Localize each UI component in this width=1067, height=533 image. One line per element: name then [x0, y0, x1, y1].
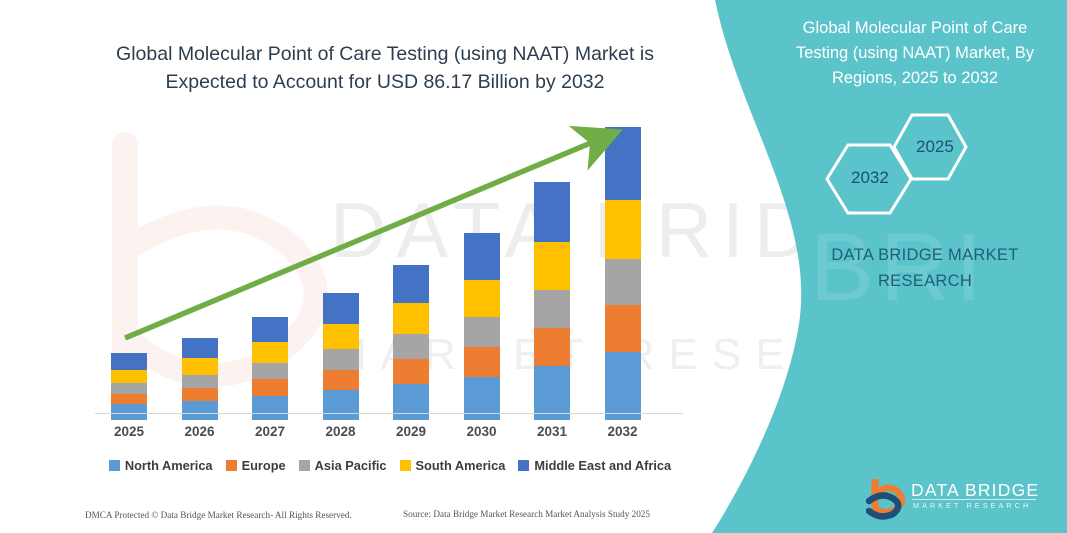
bar-segment-2032-south-america[interactable] — [605, 200, 641, 259]
legend-item-south-america[interactable]: South America — [400, 458, 506, 473]
bar-2029[interactable] — [393, 265, 429, 420]
x-axis-labels: 20252026202720282029203020312032 — [95, 424, 685, 446]
bar-segment-2031-asia-pacific[interactable] — [534, 290, 570, 328]
legend-swatch-icon — [226, 460, 237, 471]
legend-label: Middle East and Africa — [534, 458, 671, 473]
bar-2027[interactable] — [252, 317, 288, 420]
x-axis-line — [95, 413, 683, 414]
legend-label: South America — [416, 458, 506, 473]
hexagon-label-2025: 2025 — [916, 137, 954, 157]
bar-segment-2029-europe[interactable] — [393, 359, 429, 384]
bar-segment-2025-asia-pacific[interactable] — [111, 383, 147, 394]
x-label-2031: 2031 — [517, 424, 587, 439]
chart-legend: North AmericaEuropeAsia PacificSouth Ame… — [95, 458, 685, 473]
bar-2025[interactable] — [111, 353, 147, 420]
bar-segment-2031-north-america[interactable] — [534, 366, 570, 420]
bar-segment-2026-asia-pacific[interactable] — [182, 375, 218, 388]
data-bridge-logo: DATA BRIDGE MARKET RESEARCH — [866, 478, 1041, 522]
legend-swatch-icon — [400, 460, 411, 471]
bar-segment-2032-north-america[interactable] — [605, 352, 641, 420]
bar-2030[interactable] — [464, 233, 500, 420]
panel-brand-line1: DATA BRIDGE MARKET — [831, 246, 1018, 264]
legend-item-north-america[interactable]: North America — [109, 458, 213, 473]
stacked-bar-plot — [95, 120, 685, 420]
bar-segment-2026-north-america[interactable] — [182, 401, 218, 420]
bar-segment-2030-asia-pacific[interactable] — [464, 317, 500, 347]
bar-2028[interactable] — [323, 293, 359, 420]
bar-segment-2027-north-america[interactable] — [252, 396, 288, 420]
infographic-canvas: DATA BRIDGE MARKET RESEARCH Global Molec… — [0, 0, 1067, 533]
x-label-2029: 2029 — [376, 424, 446, 439]
hexagon-label-2032: 2032 — [851, 168, 889, 188]
bar-segment-2028-north-america[interactable] — [323, 390, 359, 420]
footer-source: Source: Data Bridge Market Research Mark… — [403, 509, 650, 519]
bar-segment-2025-middle-east-and-africa[interactable] — [111, 353, 147, 370]
legend-swatch-icon — [109, 460, 120, 471]
legend-label: Europe — [242, 458, 286, 473]
bar-segment-2028-middle-east-and-africa[interactable] — [323, 293, 359, 324]
bar-segment-2032-middle-east-and-africa[interactable] — [605, 127, 641, 200]
bar-segment-2026-middle-east-and-africa[interactable] — [182, 338, 218, 358]
bar-2026[interactable] — [182, 338, 218, 420]
bar-segment-2030-europe[interactable] — [464, 347, 500, 377]
bar-segment-2028-europe[interactable] — [323, 370, 359, 390]
bar-segment-2029-south-america[interactable] — [393, 303, 429, 334]
bar-segment-2029-middle-east-and-africa[interactable] — [393, 265, 429, 303]
logo-sub-text: MARKET RESEARCH — [913, 501, 1031, 510]
x-label-2030: 2030 — [447, 424, 517, 439]
footer-copyright: DMCA Protected © Data Bridge Market Rese… — [85, 510, 352, 520]
bar-segment-2026-south-america[interactable] — [182, 358, 218, 375]
legend-label: Asia Pacific — [315, 458, 387, 473]
bar-2032[interactable] — [605, 127, 641, 420]
panel-title: Global Molecular Point of Care Testing (… — [775, 16, 1055, 91]
legend-swatch-icon — [299, 460, 310, 471]
x-label-2028: 2028 — [306, 424, 376, 439]
bar-segment-2032-europe[interactable] — [605, 305, 641, 352]
bar-segment-2026-europe[interactable] — [182, 388, 218, 401]
x-label-2032: 2032 — [588, 424, 658, 439]
legend-label: North America — [125, 458, 213, 473]
x-label-2025: 2025 — [94, 424, 164, 439]
bar-segment-2027-south-america[interactable] — [252, 342, 288, 362]
bar-segment-2028-asia-pacific[interactable] — [323, 349, 359, 369]
x-label-2027: 2027 — [235, 424, 305, 439]
bar-segment-2030-south-america[interactable] — [464, 280, 500, 317]
panel-brand: DATA BRIDGE MARKET RESEARCH — [800, 242, 1050, 294]
bar-segment-2029-north-america[interactable] — [393, 384, 429, 420]
bar-segment-2027-asia-pacific[interactable] — [252, 363, 288, 380]
legend-item-middle-east-and-africa[interactable]: Middle East and Africa — [518, 458, 671, 473]
bar-segment-2031-middle-east-and-africa[interactable] — [534, 182, 570, 242]
bar-segment-2025-south-america[interactable] — [111, 370, 147, 383]
logo-divider — [912, 499, 1036, 500]
x-label-2026: 2026 — [165, 424, 235, 439]
bar-2031[interactable] — [534, 182, 570, 420]
bar-segment-2032-asia-pacific[interactable] — [605, 259, 641, 306]
bar-segment-2031-south-america[interactable] — [534, 242, 570, 290]
legend-item-asia-pacific[interactable]: Asia Pacific — [299, 458, 387, 473]
panel-brand-line2: RESEARCH — [878, 272, 972, 290]
bar-segment-2027-europe[interactable] — [252, 379, 288, 396]
chart-title: Global Molecular Point of Care Testing (… — [95, 40, 675, 96]
logo-main-text: DATA BRIDGE — [911, 480, 1039, 501]
hexagon-group: 2025 2032 — [820, 105, 1010, 215]
legend-swatch-icon — [518, 460, 529, 471]
bar-segment-2027-middle-east-and-africa[interactable] — [252, 317, 288, 342]
bar-segment-2029-asia-pacific[interactable] — [393, 334, 429, 359]
logo-mark-icon — [866, 479, 910, 521]
bar-segment-2031-europe[interactable] — [534, 328, 570, 366]
bar-segment-2025-europe[interactable] — [111, 394, 147, 405]
hexagon-shapes — [820, 105, 1010, 215]
legend-item-europe[interactable]: Europe — [226, 458, 286, 473]
bar-segment-2030-middle-east-and-africa[interactable] — [464, 233, 500, 280]
bar-segment-2028-south-america[interactable] — [323, 324, 359, 349]
